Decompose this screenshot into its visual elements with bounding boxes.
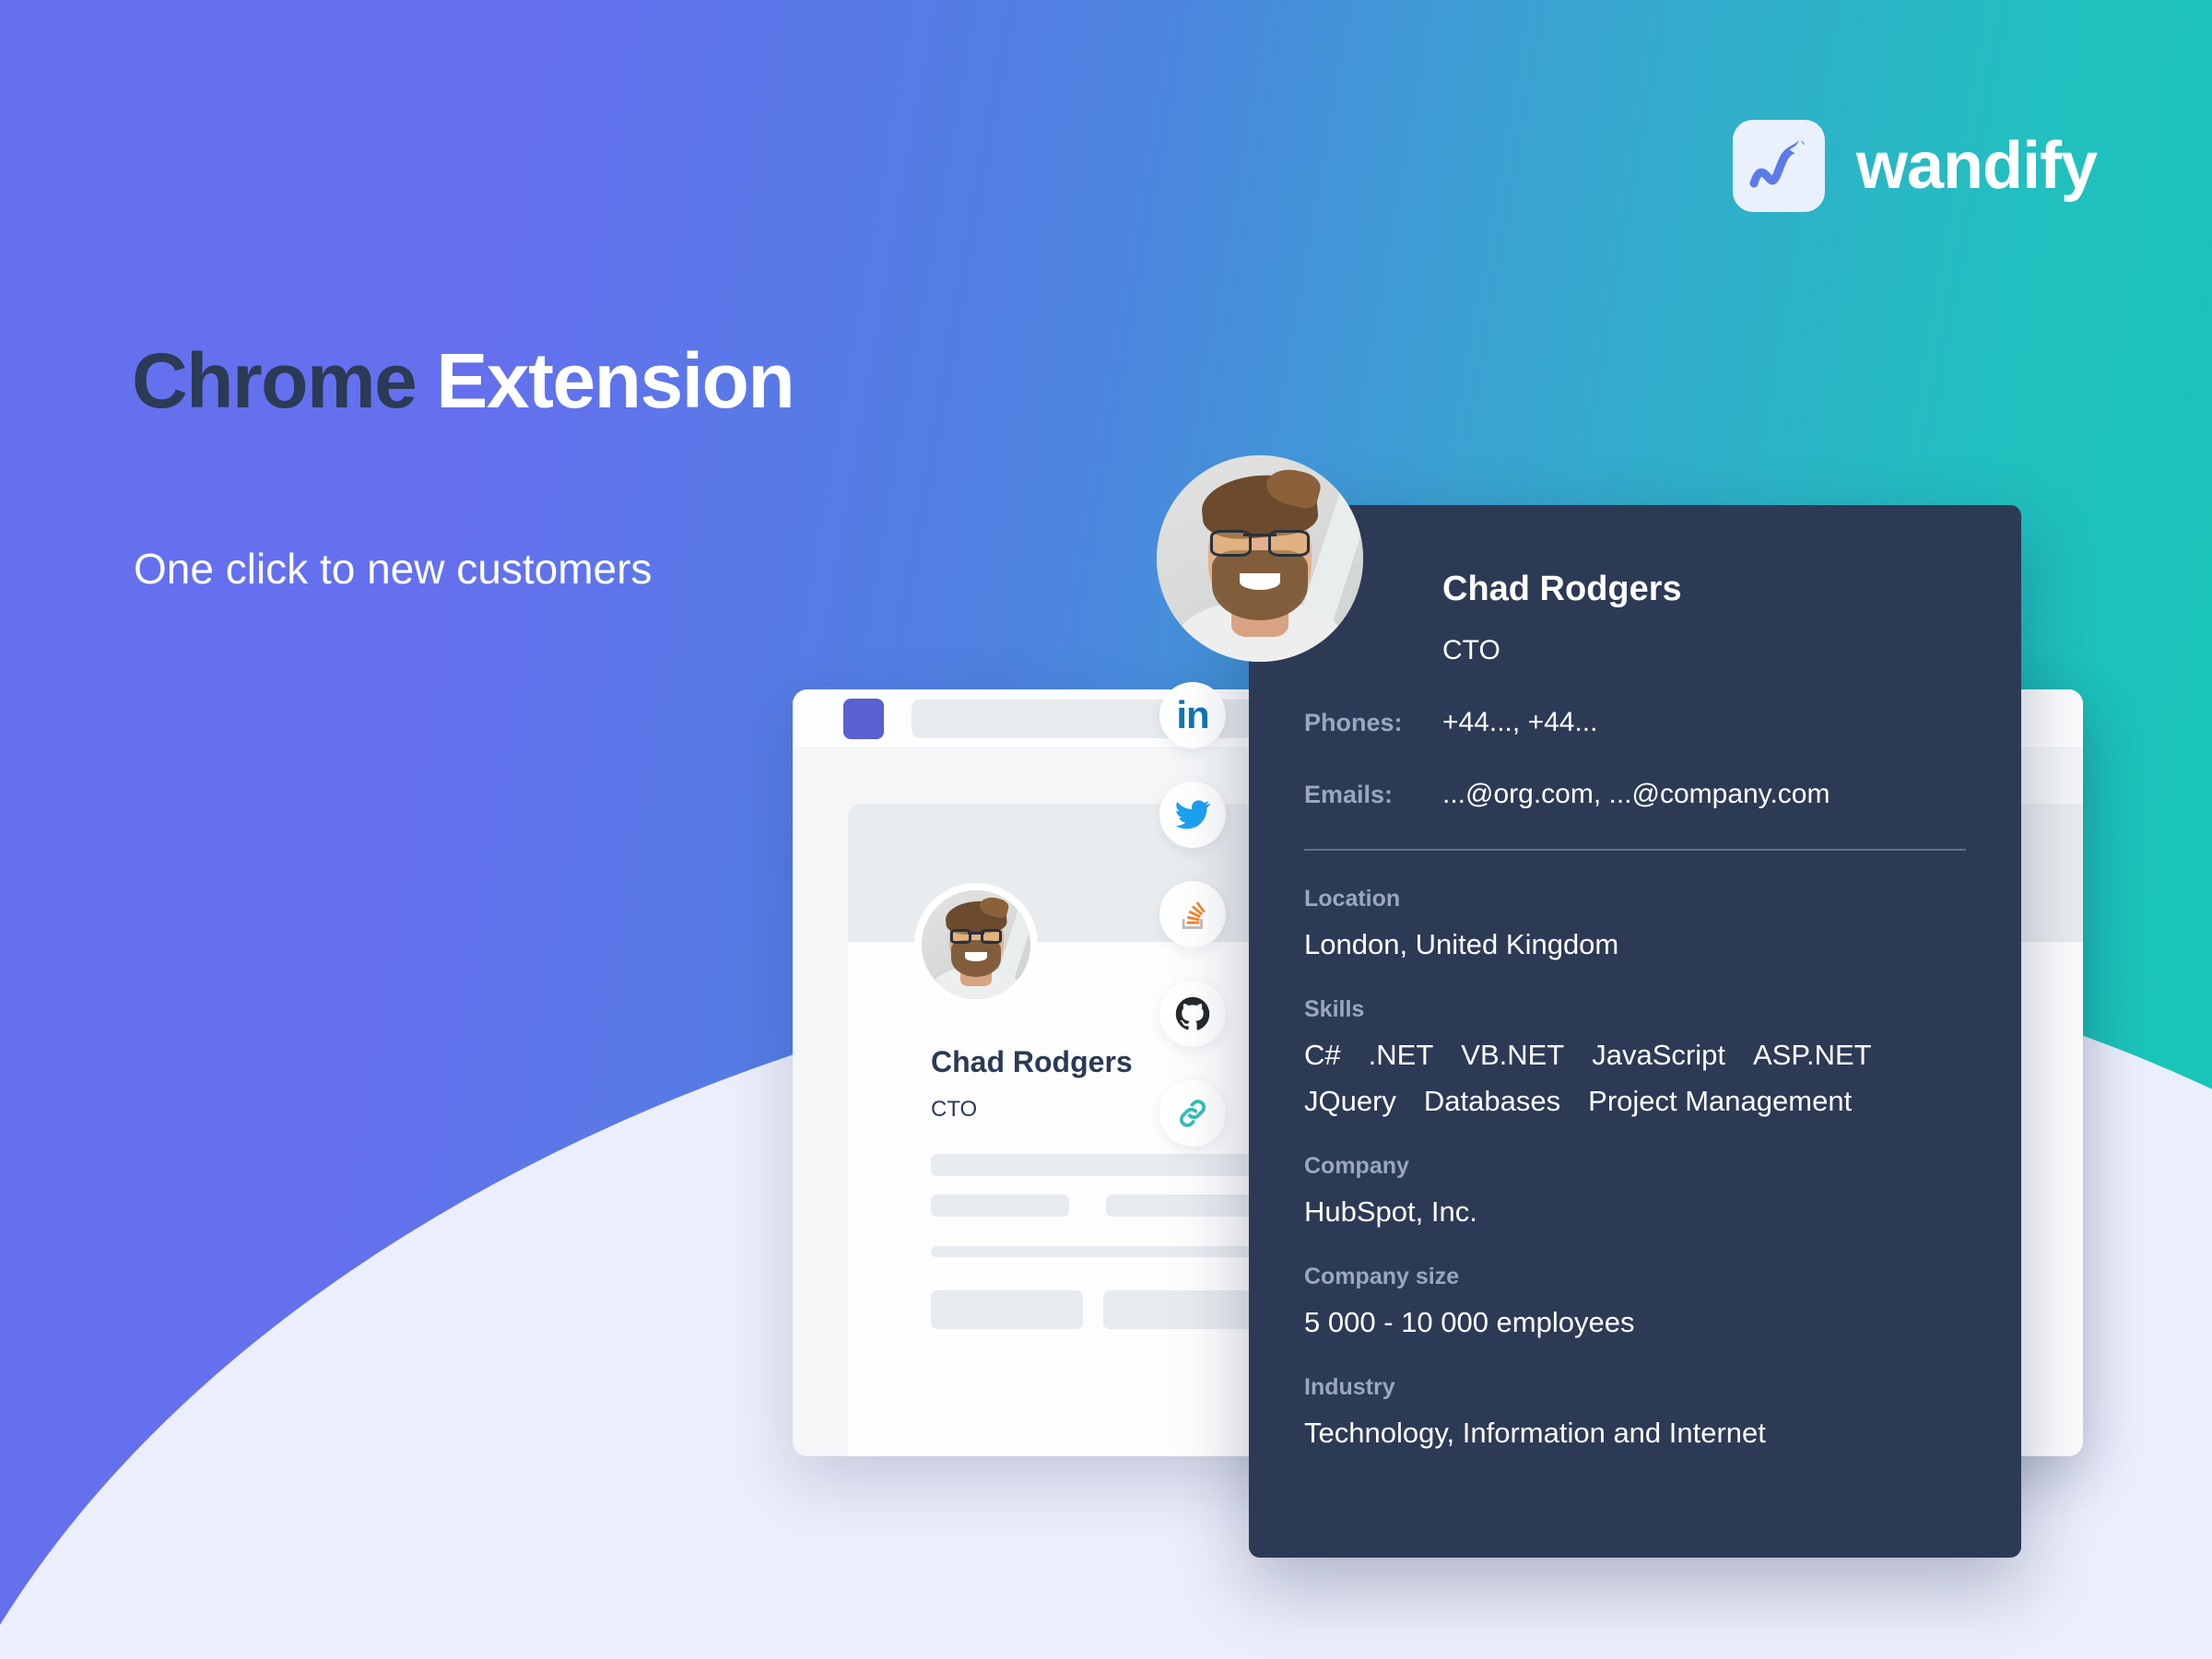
decorative-diamond-3: [129, 802, 249, 922]
industry-section: Industry Technology, Information and Int…: [1304, 1374, 1966, 1450]
company-section: Company HubSpot, Inc.: [1304, 1153, 1966, 1229]
skill-tag: JQuery: [1304, 1085, 1396, 1118]
company-size-value: 5 000 - 10 000 employees: [1304, 1306, 1966, 1339]
location-section: Location London, United Kingdom: [1304, 886, 1966, 961]
contact-emails-row: Emails: ...@org.com, ...@company.com: [1304, 779, 1966, 810]
phones-label: Phones:: [1304, 709, 1442, 737]
decorative-diamond-5: [2023, 544, 2136, 656]
contact-avatar: [1157, 455, 1363, 662]
github-icon[interactable]: [1159, 981, 1226, 1047]
decorative-diamond-2: [1452, 235, 1560, 344]
skill-tag: C#: [1304, 1039, 1341, 1072]
contact-detail-card: Chad Rodgers CTO Phones: +44..., +44... …: [1249, 505, 2021, 1558]
page-subtitle: One click to new customers: [134, 544, 652, 594]
twitter-icon[interactable]: [1159, 782, 1226, 848]
contact-name: Chad Rodgers: [1442, 570, 1966, 609]
skill-tag: Databases: [1424, 1085, 1560, 1118]
skill-tag: JavaScript: [1592, 1039, 1725, 1072]
company-size-label: Company size: [1304, 1264, 1966, 1290]
linkedin-icon[interactable]: in: [1159, 682, 1226, 748]
skeleton-block: [1103, 1290, 1255, 1329]
location-value: London, United Kingdom: [1304, 928, 1966, 961]
page-title: Chrome Extension: [132, 336, 794, 426]
contact-role: CTO: [1442, 635, 1966, 666]
emails-value: ...@org.com, ...@company.com: [1442, 779, 1830, 810]
skill-tag: Project Management: [1588, 1085, 1852, 1118]
extension-tab-icon[interactable]: [843, 699, 884, 739]
skill-tag: ASP.NET: [1753, 1039, 1872, 1072]
company-label: Company: [1304, 1153, 1966, 1180]
location-label: Location: [1304, 886, 1966, 912]
profile-avatar: [914, 883, 1038, 1006]
industry-value: Technology, Information and Internet: [1304, 1417, 1966, 1450]
linkedin-icon-label: in: [1176, 696, 1208, 735]
company-size-section: Company size 5 000 - 10 000 employees: [1304, 1264, 1966, 1339]
card-divider: [1304, 849, 1966, 851]
skills-section: Skills C# .NET VB.NET JavaScript ASP.NET…: [1304, 996, 1966, 1118]
brand-name: wandify: [1856, 128, 2097, 204]
profile-name: Chad Rodgers: [931, 1045, 1133, 1079]
social-icon-rail: in: [1159, 682, 1226, 1147]
page-title-part2: Extension: [436, 337, 794, 424]
skill-tag: .NET: [1369, 1039, 1434, 1072]
company-value: HubSpot, Inc.: [1304, 1195, 1966, 1229]
skills-label: Skills: [1304, 996, 1966, 1023]
wandify-chart-logo-icon: [1733, 120, 1825, 212]
skeleton-block: [931, 1290, 1083, 1329]
emails-label: Emails:: [1304, 781, 1442, 809]
contact-phones-row: Phones: +44..., +44...: [1304, 707, 1966, 738]
skeleton-bar: [931, 1194, 1069, 1217]
stackoverflow-icon[interactable]: [1159, 881, 1226, 947]
link-icon[interactable]: [1159, 1080, 1226, 1147]
skills-list: C# .NET VB.NET JavaScript ASP.NET JQuery…: [1304, 1039, 1966, 1118]
skill-tag: VB.NET: [1461, 1039, 1564, 1072]
decorative-diamond-1: [544, 124, 654, 235]
page-title-part1: Chrome: [132, 337, 416, 424]
profile-role: CTO: [931, 1097, 977, 1123]
brand-logo: wandify: [1733, 120, 2097, 212]
industry-label: Industry: [1304, 1374, 1966, 1401]
phones-value: +44..., +44...: [1442, 707, 1597, 738]
